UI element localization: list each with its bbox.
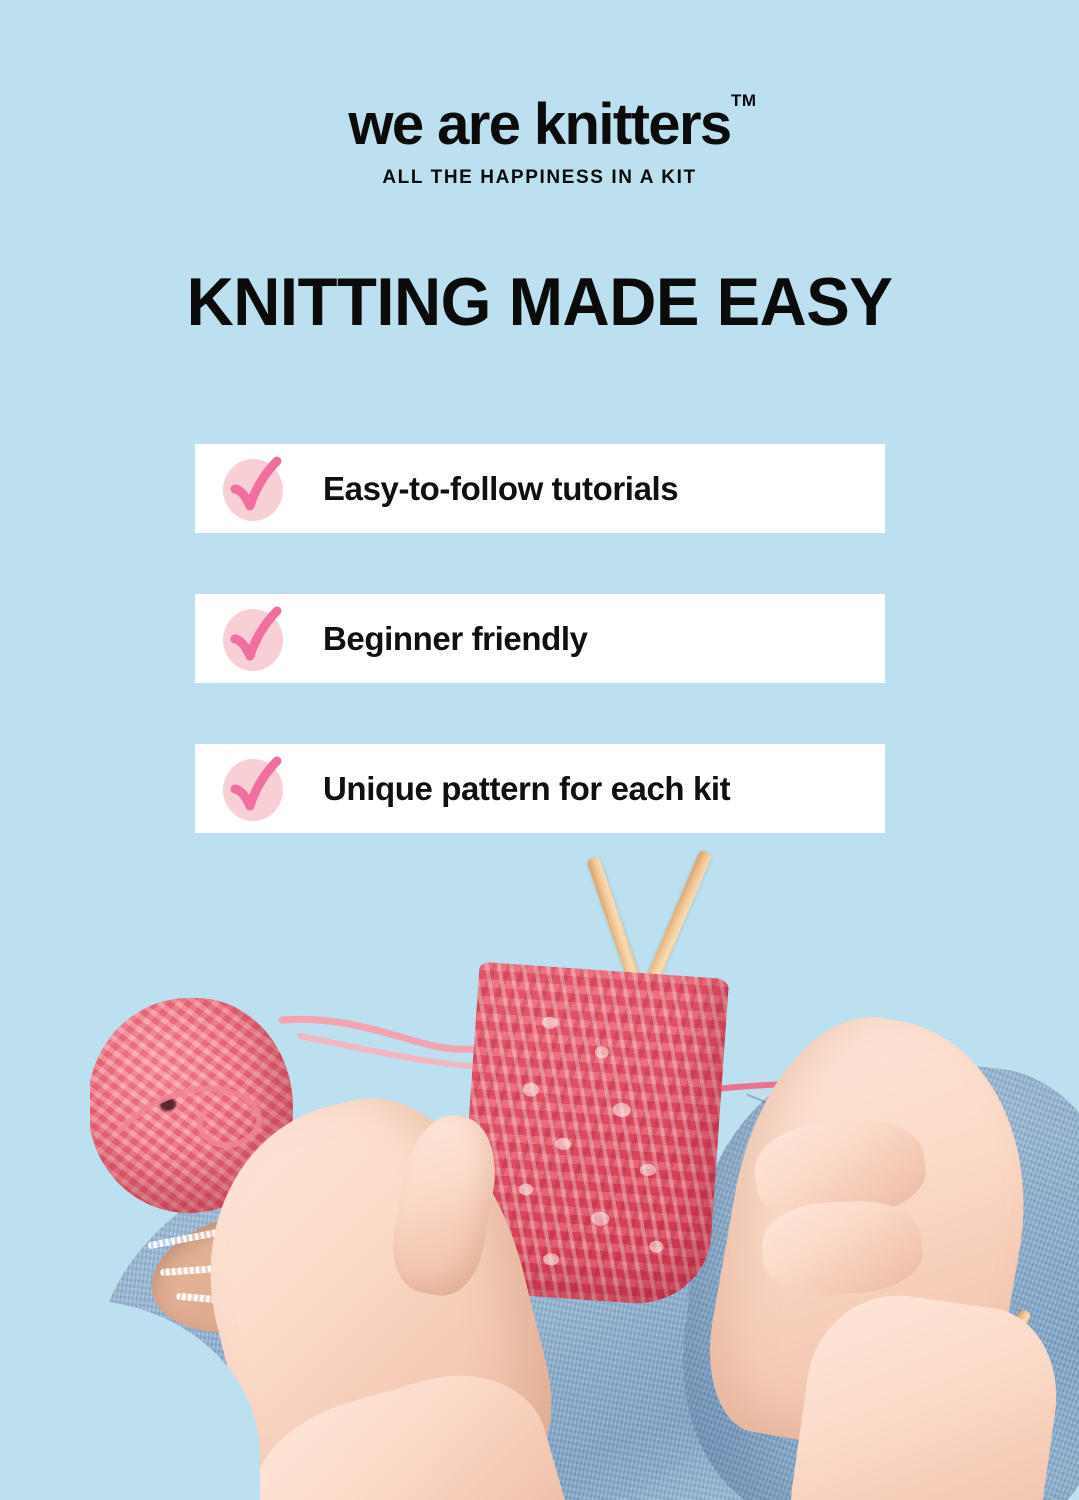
photo-cutout-mask (0, 830, 90, 1350)
feature-label: Unique pattern for each kit (323, 770, 730, 808)
feature-list: Easy-to-follow tutorials Beginner friend… (195, 444, 885, 833)
pink-check-icon (221, 457, 285, 521)
poster: we are knitters TM ALL THE HAPPINESS IN … (0, 0, 1079, 1500)
trademark-icon: TM (731, 92, 757, 109)
feature-label: Easy-to-follow tutorials (323, 470, 678, 508)
feature-card-beginner[interactable]: Beginner friendly (195, 594, 885, 683)
pink-check-icon (221, 607, 285, 671)
page-title: KNITTING MADE EASY (22, 268, 1058, 336)
hero-photo (0, 830, 1079, 1500)
brand-tagline: ALL THE HAPPINESS IN A KIT (0, 167, 1079, 189)
brand-block: we are knitters TM ALL THE HAPPINESS IN … (0, 96, 1079, 189)
feature-card-tutorials[interactable]: Easy-to-follow tutorials (195, 444, 885, 533)
brand-wordmark-text: we are knitters (348, 92, 730, 157)
feature-card-pattern[interactable]: Unique pattern for each kit (195, 744, 885, 833)
pink-check-icon (221, 757, 285, 821)
feature-label: Beginner friendly (323, 620, 588, 658)
brand-wordmark: we are knitters TM (348, 96, 730, 154)
